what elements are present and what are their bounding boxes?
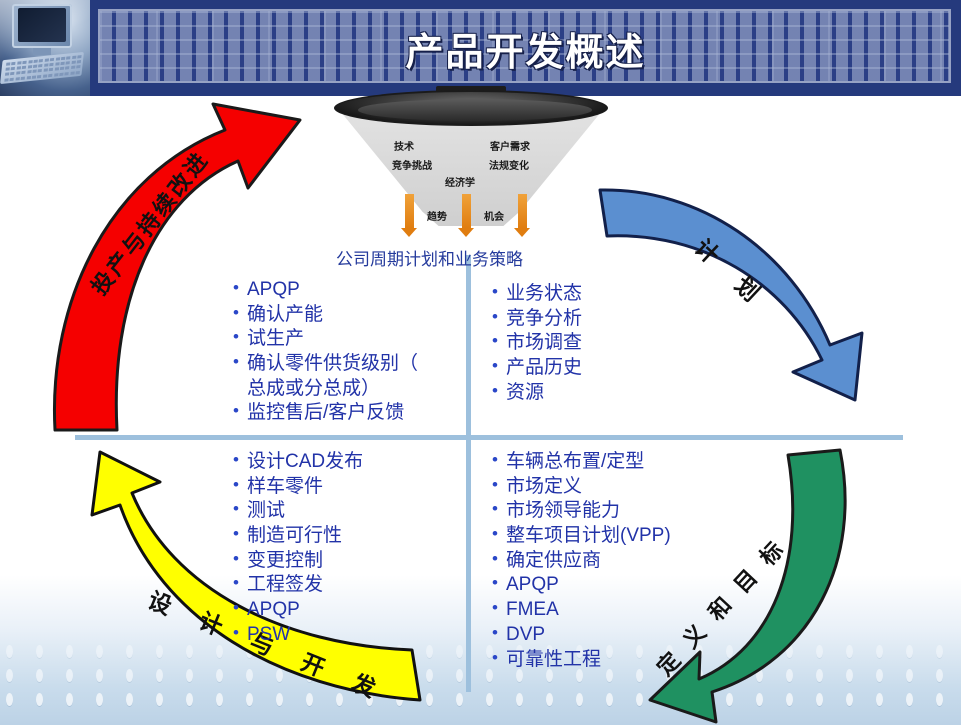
list-item: 市场调查 [492,331,582,356]
dot-row [0,645,961,663]
strategy-funnel: 技术 客户需求 竞争挑战 法规变化 经济学 趋势 机会 [332,90,610,240]
list-item: 设计CAD发布 [233,450,363,475]
list-item: FMEA [492,598,671,623]
quadrant-bottom-right: 车辆总布置/定型市场定义市场领导能力整车项目计划(VPP)确定供应商APQPFM… [492,450,671,672]
funnel-output-opportunity: 机会 [484,208,504,223]
funnel-input-competitive-challenge: 竞争挑战 [392,157,432,172]
list-item: 市场领导能力 [492,499,671,524]
list-item: 可靠性工程 [492,648,671,673]
slide-canvas: 产品开发概述 投产与持续改进 计 划 定 义 和 目 标 设 计 与 开 发 [0,0,961,725]
list-item: 监控售后/客户反馈 [233,401,418,426]
list-item: 竞争分析 [492,307,582,332]
list-item: 试生产 [233,327,418,352]
funnel-output-arrow-3 [518,194,527,228]
list-item: 资源 [492,381,582,406]
list-item: 确认产能 [233,303,418,328]
list-item: 整车项目计划(VPP) [492,524,671,549]
list-item: APQP [233,598,363,623]
quadrant-divider-horizontal [75,435,903,440]
list-item: 业务状态 [492,282,582,307]
dot-row [0,669,961,687]
list-item: 确认零件供货级别（ [233,352,418,377]
list-item: 制造可行性 [233,524,363,549]
list-design: 设计CAD发布样车零件测试制造可行性变更控制工程签发APQPPSW [233,450,363,648]
list-item: 工程签发 [233,573,363,598]
funnel-output-trend: 趋势 [427,208,447,223]
list-item: 样车零件 [233,475,363,500]
dot-row [0,693,961,711]
list-define: 车辆总布置/定型市场定义市场领导能力整车项目计划(VPP)确定供应商APQPFM… [492,450,671,672]
slide-header: 产品开发概述 [0,0,961,98]
list-item: 变更控制 [233,549,363,574]
list-item: APQP [233,278,418,303]
quadrant-bottom-left: 设计CAD发布样车零件测试制造可行性变更控制工程签发APQPPSW [233,450,363,648]
list-item: DVP [492,623,671,648]
list-item: 车辆总布置/定型 [492,450,671,475]
list-item: 确定供应商 [492,549,671,574]
funnel-caption: 公司周期计划和业务策略 [336,245,596,270]
list-item: APQP [492,573,671,598]
quadrant-divider-vertical [466,255,471,692]
arrow-label-production: 投产与持续改进 [82,143,215,301]
funnel-input-regulatory-change: 法规变化 [489,157,529,172]
list-plan: 业务状态竞争分析市场调查产品历史资源 [492,282,582,405]
list-item: 总成或分总成） [233,377,418,402]
background-dot-pattern [0,635,961,725]
funnel-rim [334,90,608,126]
funnel-output-arrow-1 [405,194,414,228]
list-item: 产品历史 [492,356,582,381]
list-item: PSW [233,623,363,648]
list-production: APQP确认产能试生产确认零件供货级别（总成或分总成）监控售后/客户反馈 [233,278,418,426]
quadrant-top-left: APQP确认产能试生产确认零件供货级别（总成或分总成）监控售后/客户反馈 [233,278,418,426]
quadrant-top-right: 业务状态竞争分析市场调查产品历史资源 [492,282,582,405]
arrow-label-plan: 计 划 [688,230,777,316]
funnel-input-customer-needs: 客户需求 [490,138,530,153]
funnel-input-technology: 技术 [394,138,414,153]
page-title: 产品开发概述 [90,0,961,96]
funnel-input-economics: 经济学 [445,174,475,189]
list-item: 市场定义 [492,475,671,500]
computer-photo-icon [0,0,90,96]
funnel-output-arrow-2 [462,194,471,228]
list-item: 测试 [233,499,363,524]
